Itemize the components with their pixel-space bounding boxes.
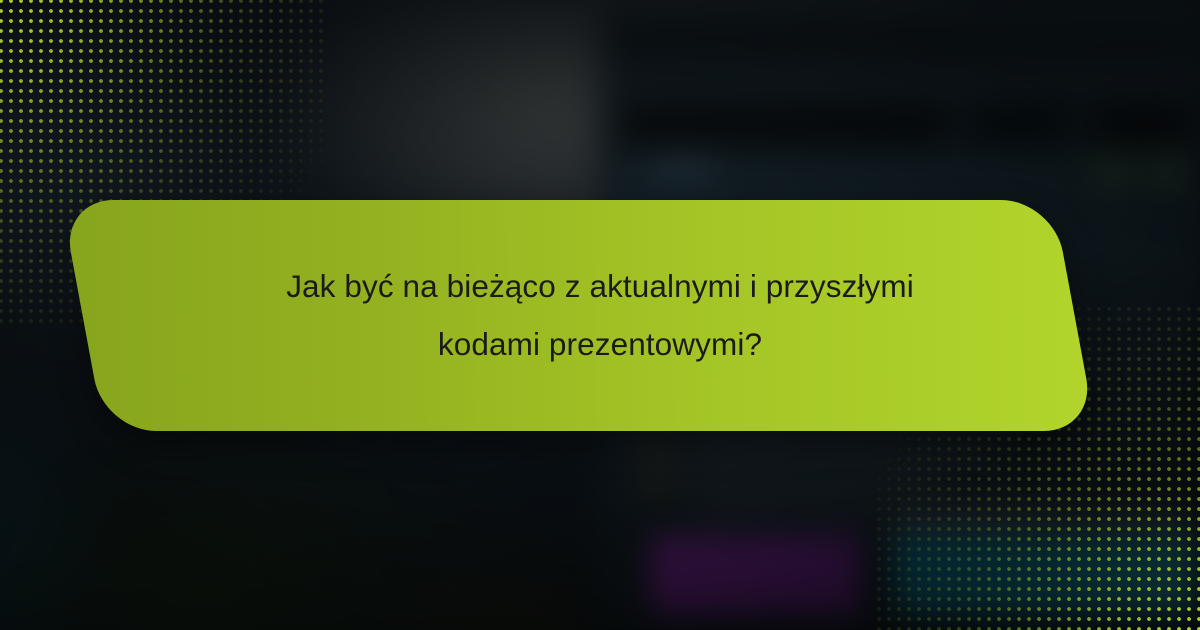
page-canvas: Jak być na bieżąco z aktualnymi i przysz…	[0, 0, 1200, 630]
question-line-2: kodami prezentowymi?	[438, 319, 762, 370]
question-card-text: Jak być na bieżąco z aktualnymi i przysz…	[104, 200, 1096, 431]
question-line-1: Jak być na bieżąco z aktualnymi i przysz…	[286, 261, 914, 312]
question-card: Jak być na bieżąco z aktualnymi i przysz…	[104, 200, 1096, 431]
